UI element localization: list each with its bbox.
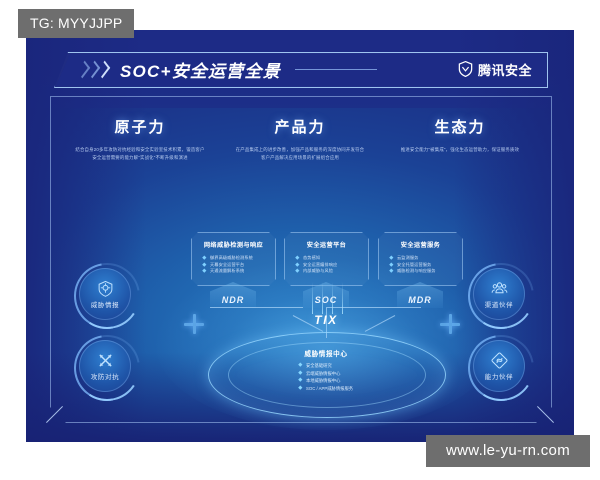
card-title: 安全运营平台	[285, 240, 368, 249]
card-title: 安全运营服务	[379, 240, 462, 249]
list-item: 内部威胁与风险	[296, 268, 368, 275]
center-items: 安全基础研究 云端威胁情报中心 本地威胁情报中心 SOC / APP威胁情报服务	[299, 362, 353, 392]
card-items: 态势感知 安全运营编排响应 内部威胁与风险	[296, 255, 368, 275]
pillar-atomic: 原子力 结合自身20多年攻防对抗经验和安全实验室技术积累，锻造客户安全运营需要的…	[60, 116, 220, 162]
card-title: 网络威胁检测与响应	[192, 240, 275, 249]
pillar-desc: 在产品集成上的进步改善，加强产品和服务的深度协同开发符合客户产品解决应用场景的扩…	[220, 146, 380, 162]
connector-line	[210, 307, 303, 308]
shield-icon	[458, 61, 473, 77]
pillar-title: 生态力	[380, 116, 540, 137]
screenshot-root: TG: MYYJJPP SOC+安全运营全景	[0, 0, 600, 480]
page-title: SOC+安全运营全景	[120, 57, 281, 82]
architecture-diagram: 网络威胁检测与响应 御界高级威胁检测系统 天幕安全运营平台 天通流量解析系统 安…	[186, 220, 466, 420]
center-title: 威胁情报中心	[186, 348, 466, 358]
card-mdr[interactable]: 安全运营服务 云监测服务 安全托管运营服务 威胁检测与响应服务	[378, 232, 463, 286]
title-rule	[295, 69, 377, 70]
pillar-desc: 推进安全能力"被集成"，强化生态运营助力，保证服务质效	[380, 146, 540, 154]
poster-header: SOC+安全运营全景 腾讯安全	[54, 52, 546, 86]
brand-lockup: 腾讯安全	[458, 60, 532, 79]
pillar-desc: 结合自身20多年攻防对抗经验和安全实验室技术积累，锻造客户安全运营需要的能力解"…	[60, 146, 220, 162]
pillar-title: 产品力	[220, 116, 380, 137]
brand-name: 腾讯安全	[478, 60, 532, 79]
tg-watermark: TG: MYYJJPP	[18, 9, 134, 38]
site-watermark: www.le-yu-rn.com	[426, 435, 590, 467]
pillar-product: 产品力 在产品集成上的进步改善，加强产品和服务的深度协同开发符合客户产品解决应用…	[220, 116, 380, 162]
pillar-columns: 原子力 结合自身20多年攻防对抗经验和安全实验室技术积累，锻造客户安全运营需要的…	[50, 116, 550, 186]
list-item: 本地威胁情报中心	[299, 377, 353, 385]
poster-canvas: SOC+安全运营全景 腾讯安全 原子力 结合自身20多年攻防对抗经验和安全实验室…	[26, 30, 574, 442]
card-items: 御界高级威胁检测系统 天幕安全运营平台 天通流量解析系统	[203, 255, 275, 275]
list-item: 威胁检测与响应服务	[390, 268, 462, 275]
list-item: 安全基础研究	[299, 362, 353, 370]
center-code: TIX	[186, 313, 466, 327]
chevron-group	[79, 63, 108, 76]
card-items: 云监测服务 安全托管运营服务 威胁检测与响应服务	[390, 255, 462, 275]
list-item: 天通流量解析系统	[203, 268, 275, 275]
list-item: SOC / APP威胁情报服务	[299, 385, 353, 393]
card-soc[interactable]: 安全运营平台 态势感知 安全运营编排响应 内部威胁与风险	[284, 232, 369, 286]
pillar-title: 原子力	[60, 116, 220, 137]
chevron-right-icon	[97, 60, 110, 78]
card-ndr[interactable]: 网络威胁检测与响应 御界高级威胁检测系统 天幕安全运营平台 天通流量解析系统	[191, 232, 276, 286]
list-item: 云端威胁情报中心	[299, 370, 353, 378]
beam-lines	[310, 282, 344, 314]
badge-attack-defense[interactable]: 攻防对抗	[79, 340, 131, 392]
badge-threat-intel[interactable]: 威胁情报	[79, 268, 131, 320]
pillar-ecosystem: 生态力 推进安全能力"被集成"，强化生态运营助力，保证服务质效	[380, 116, 540, 154]
